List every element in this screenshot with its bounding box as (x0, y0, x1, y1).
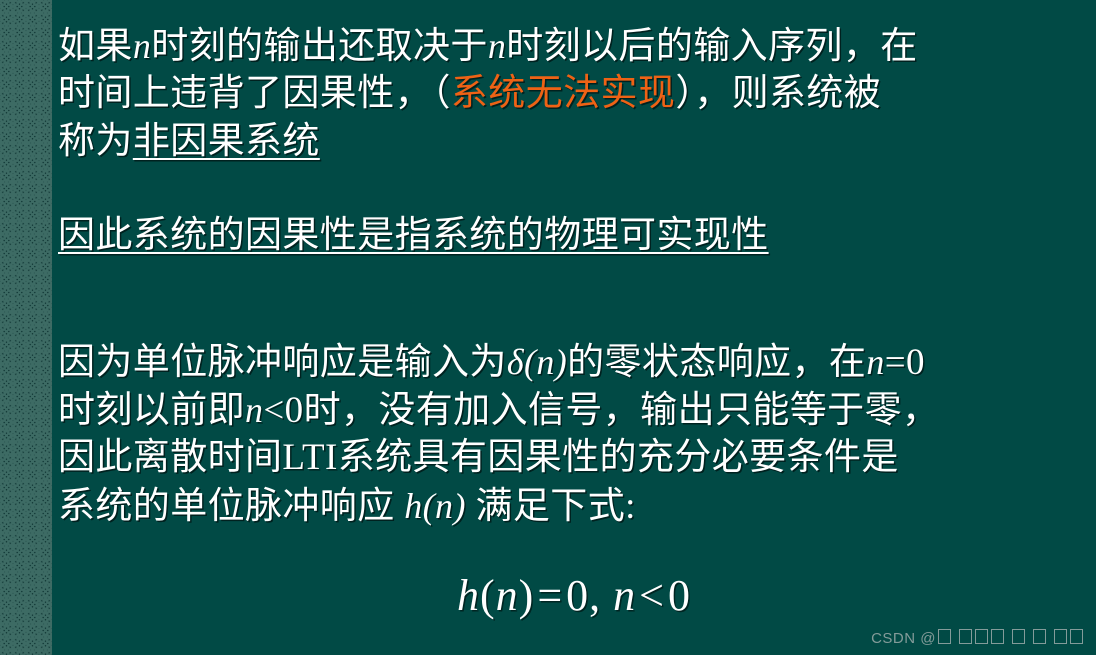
p3-l1-text-a: 因为单位脉冲响应是输入为 (58, 342, 507, 383)
watermark-glyph-box (1033, 629, 1046, 644)
csdn-watermark: CSDN @ (871, 629, 1084, 647)
watermark-glyph-box (938, 629, 951, 644)
watermark-glyph-box (959, 629, 972, 644)
formula-lhs-close-paren: ) (519, 571, 535, 620)
p1-l3-text-a: 称为 (58, 121, 133, 162)
slide: 如果n时刻的输出还取决于n时刻以后的输入序列，在 时间上违背了因果性，（系统无法… (0, 0, 1096, 655)
paragraph3-line2: 时刻以前即n<0时，没有加入信号，输出只能等于零， (58, 386, 939, 434)
p1-l2-highlight: 系统无法实现 (451, 73, 675, 114)
paragraph1-line1: 如果n时刻的输出还取决于n时刻以后的输入序列，在 (58, 22, 918, 70)
watermark-glyph-box (975, 629, 988, 644)
paragraph-causality-means-realizability: 因此系统的因果性是指系统的物理可实现性 (58, 212, 769, 260)
formula-lhs-variable: n (496, 571, 519, 620)
paragraph3-line1: 因为单位脉冲响应是输入为δ(n)的零状态响应，在n=0 (58, 338, 939, 386)
paragraph-impulse-response-derivation: 因为单位脉冲响应是输入为δ(n)的零状态响应，在n=0 时刻以前即n<0时，没有… (58, 338, 939, 530)
slide-content: 如果n时刻的输出还取决于n时刻以后的输入序列，在 时间上违背了因果性，（系统无法… (52, 0, 1096, 655)
formula-rhs-zero: 0 (566, 571, 589, 620)
watermark-glyph-box (1070, 629, 1083, 644)
formula-causality-condition: h(n)=0, n<0 (52, 570, 1096, 621)
p3-l1-text-c: =0 (885, 342, 925, 383)
paragraph-noncausal-definition: 如果n时刻的输出还取决于n时刻以后的输入序列，在 时间上违背了因果性，（系统无法… (58, 22, 918, 166)
p1-l1-text-c: 时刻以后的输入序列，在 (506, 26, 917, 67)
paragraph1-line3: 称为非因果系统 (58, 118, 918, 166)
formula-comma: , (589, 571, 601, 620)
p3-l4-h-of-n: h(n) (404, 486, 466, 526)
decorative-wave-band (0, 0, 52, 655)
formula-condition-zero: 0 (668, 571, 691, 620)
p1-l3-underlined-term: 非因果系统 (133, 121, 320, 162)
formula-equals-sign: = (534, 571, 566, 620)
p1-l1-variable-n2: n (488, 26, 506, 66)
p3-l4-text-b: 满足下式: (476, 486, 636, 527)
p3-l2-text-b: <0时，没有加入信号，输出只能等于零， (263, 390, 939, 431)
p1-l1-text-b: 时刻的输出还取决于 (151, 26, 488, 67)
watermark-glyph-box (991, 629, 1004, 644)
paragraph1-line2: 时间上违背了因果性，（系统无法实现），则系统被 (58, 70, 918, 118)
formula-lhs-open-paren: ( (480, 571, 496, 620)
watermark-glyph-box (1012, 629, 1025, 644)
p3-l1-variable-n: n (866, 342, 884, 382)
formula-less-than-sign: < (636, 571, 668, 620)
p3-l2-variable-n: n (245, 390, 263, 430)
p3-l1-text-b: 的零状态响应，在 (567, 342, 866, 383)
p3-l1-delta-n: δ(n) (507, 342, 567, 382)
p3-l4-text-a: 系统的单位脉冲响应 (58, 486, 395, 527)
watermark-prefix: CSDN @ (871, 630, 936, 647)
seigaiha-pattern-icon (0, 0, 52, 655)
formula-lhs-function: h (457, 571, 480, 620)
paragraph3-line4: 系统的单位脉冲响应 h(n) 满足下式: (58, 482, 939, 530)
p1-l2-text-a: 时间上违背了因果性，（ (58, 73, 451, 114)
paragraph2-line1: 因此系统的因果性是指系统的物理可实现性 (58, 212, 769, 260)
paragraph3-line3: 因此离散时间LTI系统具有因果性的充分必要条件是 (58, 434, 939, 482)
formula-condition-variable: n (613, 571, 636, 620)
p1-l2-text-b: ），则系统被 (675, 73, 881, 114)
p3-l2-text-a: 时刻以前即 (58, 390, 245, 431)
p1-l1-text-a: 如果 (58, 26, 133, 67)
p1-l1-variable-n: n (133, 26, 151, 66)
watermark-glyph-box (1054, 629, 1067, 644)
